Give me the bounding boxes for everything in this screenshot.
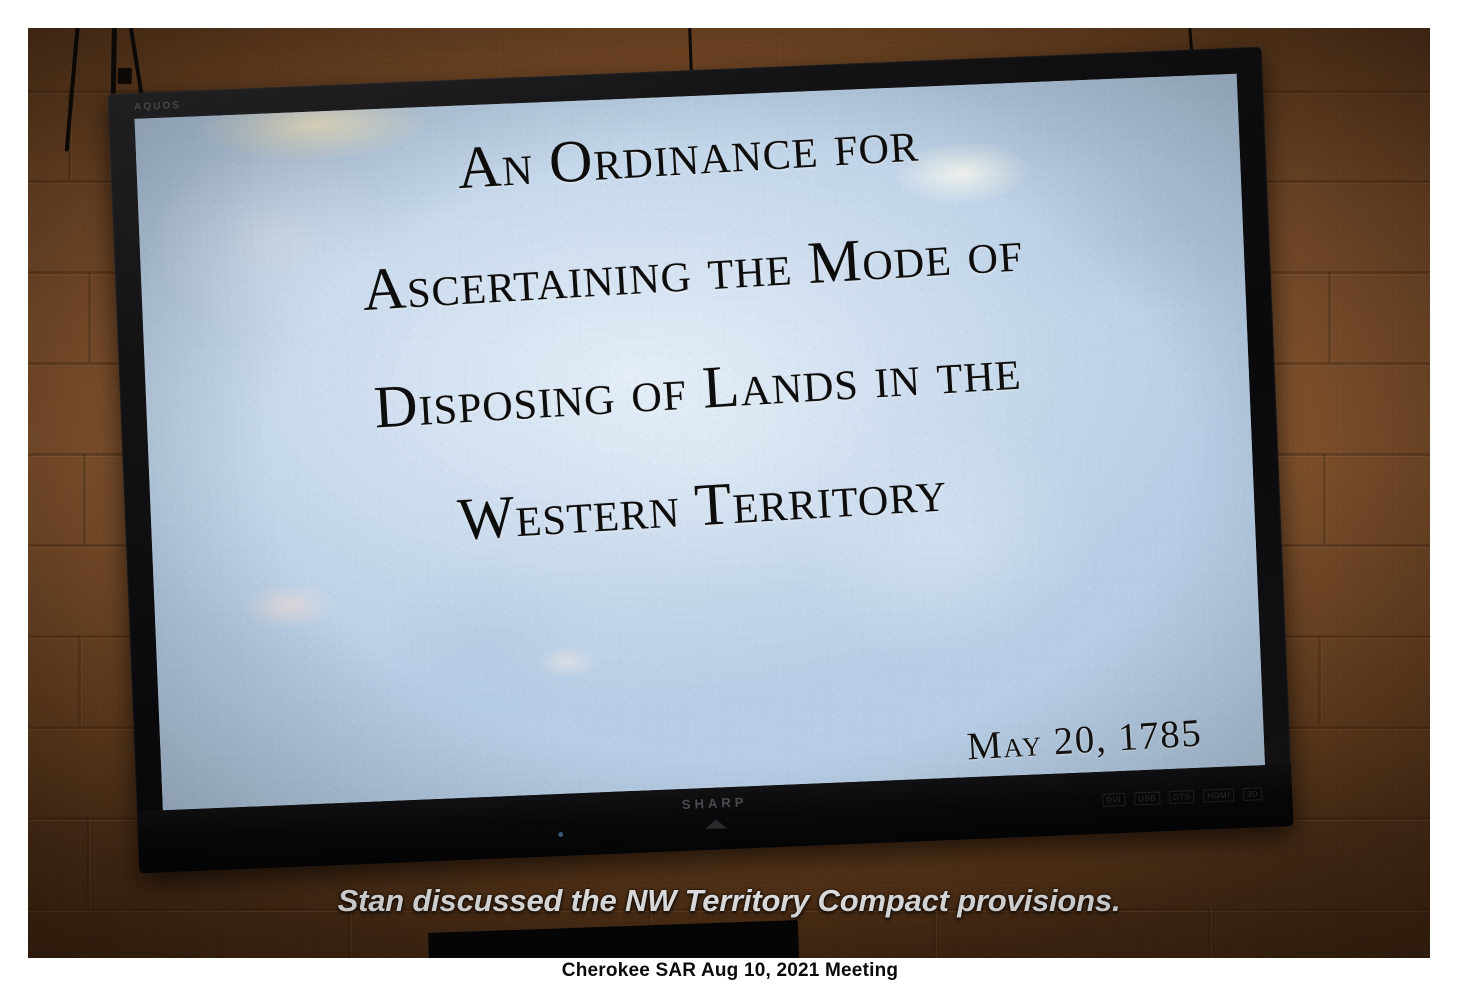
chevron-up-icon (704, 819, 726, 829)
3d-logo-icon: 3D (1243, 787, 1263, 801)
sharp-brand-label: SHARP (682, 794, 748, 812)
hdmi-logo-icon: HDMI (1203, 788, 1234, 802)
aquos-brand-label: AQUOS (134, 100, 182, 113)
dvi-logo-icon: DVI (1102, 793, 1125, 807)
tv-screen[interactable]: An Ordinance for Ascertaining the Mode o… (135, 74, 1265, 811)
dts-logo-icon: DTS (1169, 790, 1195, 804)
slide-title-line-3: Disposing of Lands in the (145, 321, 1250, 456)
cable-clip (117, 68, 132, 84)
slide-title-line-2: Ascertaining the Mode of (140, 203, 1245, 338)
photo-page: AQUOS An Ordinance for Ascertaining the … (0, 0, 1460, 993)
footer-caption: Cherokee SAR Aug 10, 2021 Meeting (0, 960, 1460, 982)
power-led-indicator (558, 832, 563, 837)
presentation-slide: An Ordinance for Ascertaining the Mode o… (135, 74, 1265, 811)
certification-logos: DVI USB DTS HDMI 3D (1102, 787, 1262, 807)
usb-logo-icon: USB (1134, 791, 1160, 805)
slide-title-line-4: Western Territory (150, 438, 1255, 573)
slide-date: May 20, 1785 (965, 710, 1203, 769)
meeting-photograph: AQUOS An Ordinance for Ascertaining the … (28, 28, 1430, 958)
wall-mounted-television[interactable]: AQUOS An Ordinance for Ascertaining the … (107, 47, 1293, 874)
photo-caption: Stan discussed the NW Territory Compact … (28, 883, 1430, 919)
